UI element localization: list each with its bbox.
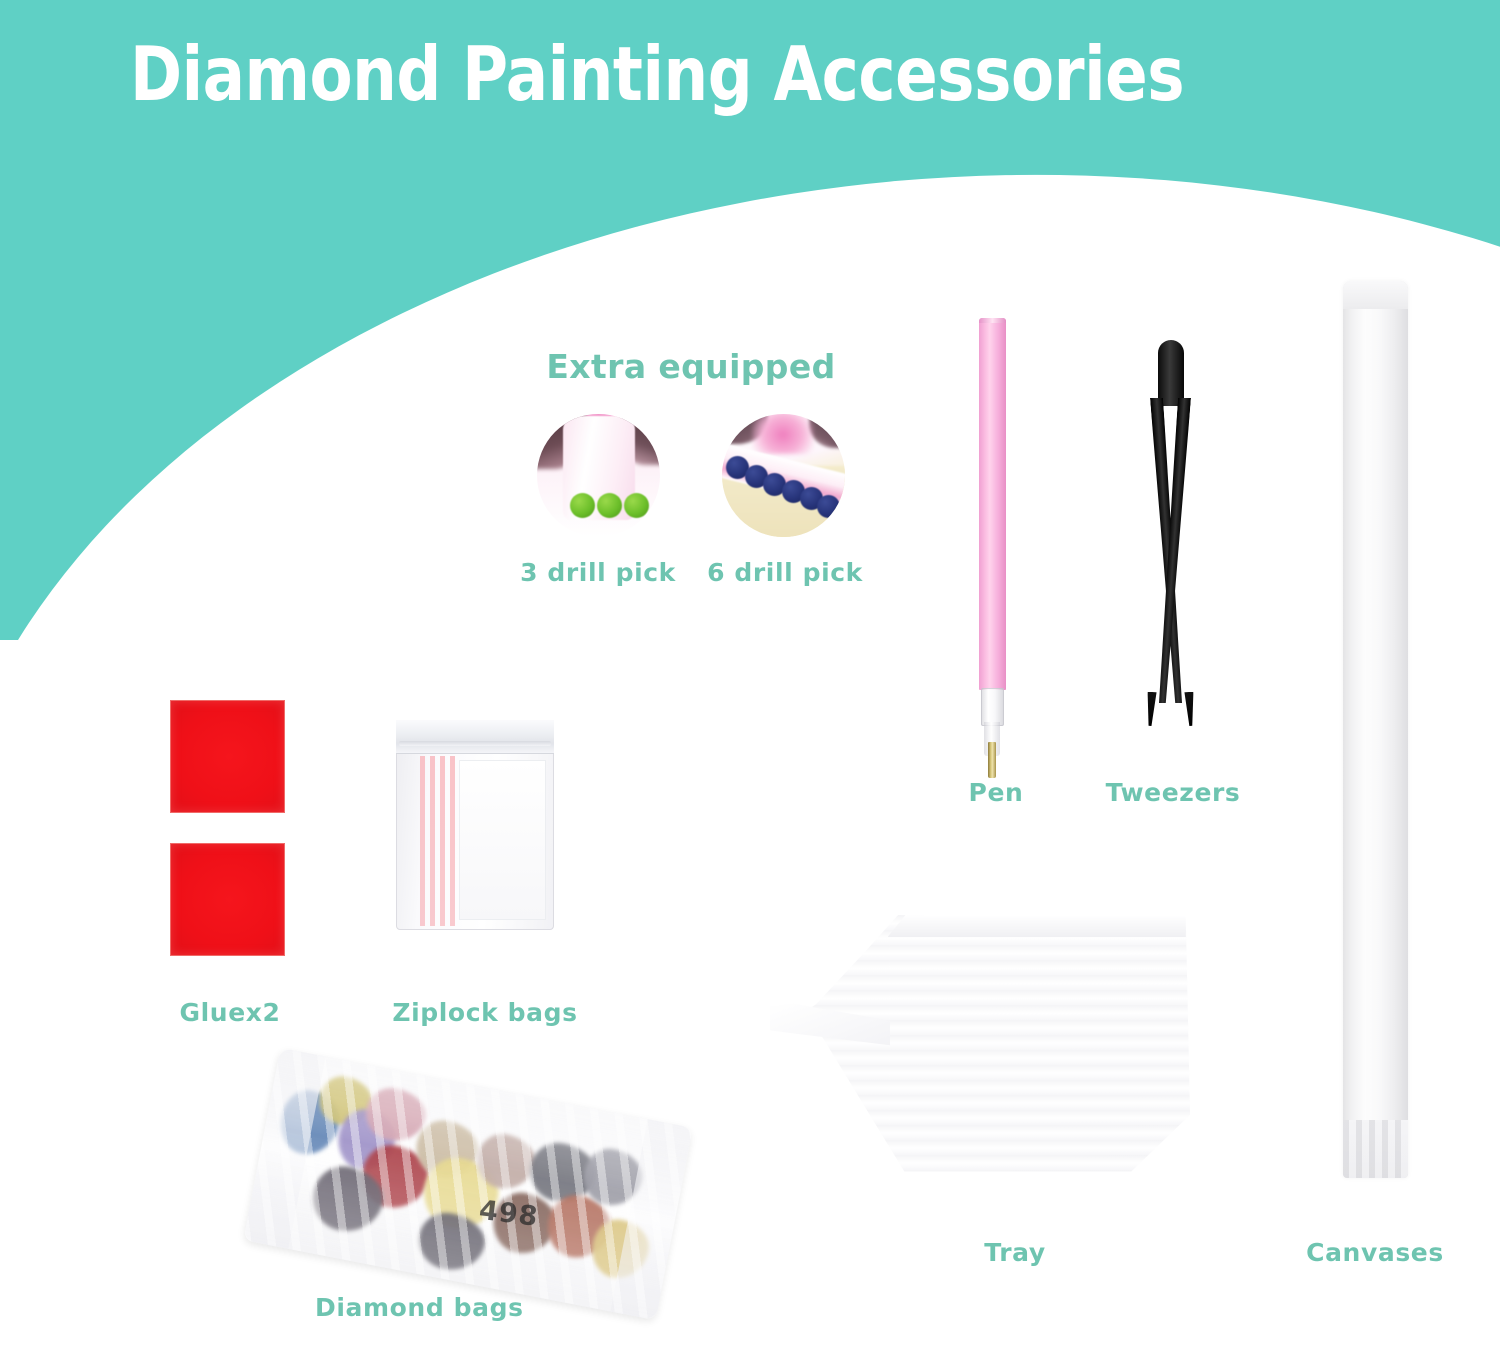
label-6-drill-pick: 6 drill pick (675, 558, 895, 587)
tray-top-edge (888, 915, 1186, 937)
pen-barrel (979, 318, 1006, 690)
page-title: Diamond Painting Accessories (130, 33, 1116, 115)
extra-equipped-heading: Extra equipped (536, 347, 846, 386)
green-drill-icon (570, 493, 595, 518)
ziplock-inner-panel (459, 760, 546, 920)
plastic-sheen-overlay (243, 1048, 693, 1321)
green-drill-icon (624, 493, 649, 518)
ziplock-pink-stripe (430, 756, 435, 926)
ziplock-bags-illustration (396, 720, 554, 930)
tray-body (770, 915, 1190, 1185)
label-gluex2: Gluex2 (130, 998, 330, 1027)
label-tweezers: Tweezers (1073, 778, 1273, 807)
diamond-bags-shrinkwrap: 498 (243, 1048, 693, 1321)
pen-collar (981, 688, 1004, 726)
tray-illustration (770, 915, 1190, 1185)
tweezers-tip-left (1146, 692, 1156, 726)
label-ziplock-bags: Ziplock bags (385, 998, 585, 1027)
tweezers-illustration (1128, 340, 1218, 750)
ziplock-zipper (396, 720, 554, 754)
green-drill-icon (597, 493, 622, 518)
label-diamond-bags: Diamond bags (315, 1293, 515, 1322)
canvas-roll-illustration (1343, 281, 1408, 1178)
tweezers-tip-right (1184, 692, 1194, 726)
blue-drill-icon (817, 495, 840, 518)
infographic-page: Diamond Painting Accessories Extra equip… (0, 0, 1500, 1346)
label-tray: Tray (915, 1238, 1115, 1267)
diamond-bags-illustration: 498 (243, 1048, 693, 1321)
three-drill-pick-photo (537, 414, 660, 537)
pen-illustration (970, 318, 1022, 758)
ziplock-pink-stripe (440, 756, 445, 926)
label-canvases: Canvases (1275, 1238, 1475, 1267)
glue-square (170, 700, 285, 813)
ziplock-pink-stripe (450, 756, 455, 926)
ziplock-pink-stripe (420, 756, 425, 926)
label-pen: Pen (896, 778, 1096, 807)
pen-metal-point (988, 742, 996, 778)
glue-square (170, 843, 285, 956)
tweezers-head (1158, 340, 1184, 406)
pick-photo-pink-glow (752, 414, 814, 454)
six-drill-pick-photo (722, 414, 845, 537)
